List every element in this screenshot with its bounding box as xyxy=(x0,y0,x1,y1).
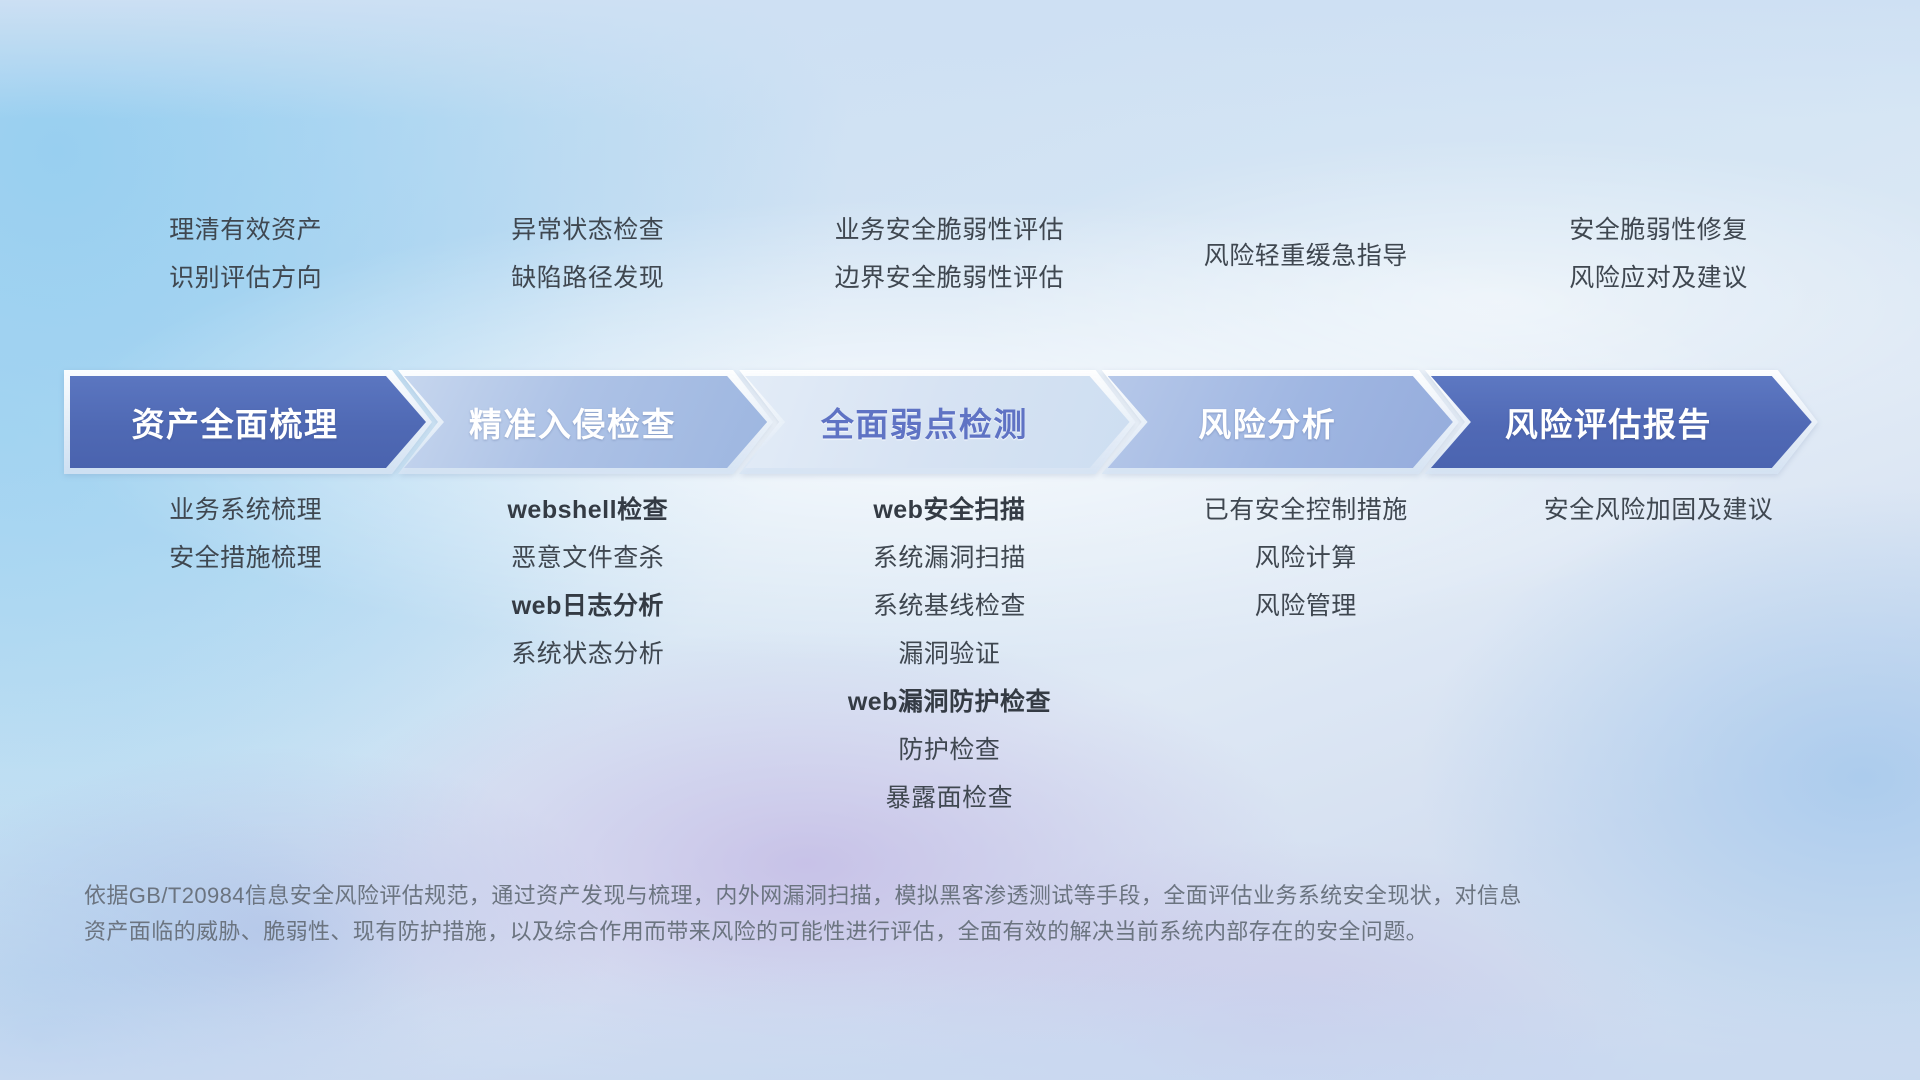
bottom-item: 安全措施梳理 xyxy=(169,546,322,571)
top-column-asset-inventory: 理清有效资产 识别评估方向 xyxy=(78,218,413,314)
bottom-item: 漏洞验证 xyxy=(898,642,1000,667)
chevron-label: 资产全面梳理 xyxy=(132,398,365,446)
bottom-item: web安全扫描 xyxy=(873,498,1025,523)
top-outcomes-row: 理清有效资产 识别评估方向 异常状态检查 缺陷路径发现 业务安全脆弱性评估 边界… xyxy=(78,218,1842,328)
bottom-item: 系统状态分析 xyxy=(511,642,664,667)
bottom-item: webshell检查 xyxy=(507,498,668,523)
top-item: 缺陷路径发现 xyxy=(511,266,664,291)
top-item: 风险轻重缓急指导 xyxy=(1204,244,1408,269)
top-item: 异常状态检查 xyxy=(511,218,664,243)
chevron-label: 精准入侵检查 xyxy=(469,398,702,446)
diagram-content: 理清有效资产 识别评估方向 异常状态检查 缺陷路径发现 业务安全脆弱性评估 边界… xyxy=(0,0,1920,1080)
bottom-item: web日志分析 xyxy=(512,594,664,619)
top-item: 业务安全脆弱性评估 xyxy=(835,218,1065,243)
bottom-column-asset-inventory: 业务系统梳理 安全措施梳理 xyxy=(78,498,413,594)
chevron-step-risk-analysis[interactable]: 风险分析 xyxy=(1108,376,1453,468)
bottom-item: 安全风险加固及建议 xyxy=(1544,498,1774,523)
bottom-item: 风险计算 xyxy=(1255,546,1357,571)
bottom-item: 系统基线检查 xyxy=(873,594,1026,619)
chevron-label: 全面弱点检测 xyxy=(821,398,1054,446)
top-item: 风险应对及建议 xyxy=(1569,266,1748,291)
top-item: 理清有效资产 xyxy=(169,218,322,243)
top-item: 边界安全脆弱性评估 xyxy=(835,266,1065,291)
chevron-label: 风险评估报告 xyxy=(1505,398,1738,446)
process-chevron-band: 资产全面梳理 精准入侵检查 全面弱点检测 风险分析 风险评估报告 xyxy=(70,376,1850,468)
top-column-intrusion-check: 异常状态检查 缺陷路径发现 xyxy=(413,218,762,314)
bottom-item: 暴露面检查 xyxy=(886,786,1014,811)
bottom-item: 系统漏洞扫描 xyxy=(873,546,1026,571)
bottom-item: 业务系统梳理 xyxy=(169,498,322,523)
bottom-column-risk-analysis: 已有安全控制措施 风险计算 风险管理 xyxy=(1136,498,1475,642)
bottom-column-intrusion-check: webshell检查 恶意文件查杀 web日志分析 系统状态分析 xyxy=(413,498,762,690)
footer-line-1: 依据GB/T20984信息安全风险评估规范，通过资产发现与梳理，内外网漏洞扫描，… xyxy=(84,878,1644,914)
bottom-item: 防护检查 xyxy=(898,738,1000,763)
chevron-label: 风险分析 xyxy=(1198,398,1362,446)
bottom-column-weakness-detection: web安全扫描 系统漏洞扫描 系统基线检查 漏洞验证 web漏洞防护检查 防护检… xyxy=(762,498,1136,834)
chevron-step-asset-inventory[interactable]: 资产全面梳理 xyxy=(70,376,426,468)
bottom-item: 已有安全控制措施 xyxy=(1204,498,1408,523)
top-item: 安全脆弱性修复 xyxy=(1569,218,1748,243)
bottom-item: 风险管理 xyxy=(1255,594,1357,619)
top-item: 识别评估方向 xyxy=(169,266,322,291)
bottom-column-risk-report: 安全风险加固及建议 xyxy=(1475,498,1842,546)
top-column-risk-analysis: 风险轻重缓急指导 xyxy=(1136,218,1475,292)
bottom-item: web漏洞防护检查 xyxy=(848,690,1051,715)
top-column-risk-report: 安全脆弱性修复 风险应对及建议 xyxy=(1475,218,1842,314)
bottom-activities-row: 业务系统梳理 安全措施梳理 webshell检查 恶意文件查杀 web日志分析 … xyxy=(78,498,1842,828)
top-column-weakness-detection: 业务安全脆弱性评估 边界安全脆弱性评估 xyxy=(762,218,1136,314)
chevron-step-risk-report[interactable]: 风险评估报告 xyxy=(1431,376,1812,468)
slide-canvas: 理清有效资产 识别评估方向 异常状态检查 缺陷路径发现 业务安全脆弱性评估 边界… xyxy=(0,0,1920,1080)
footer-line-2: 资产面临的威胁、脆弱性、现有防护措施，以及综合作用而带来风险的可能性进行评估，全… xyxy=(84,914,1644,950)
chevron-step-weakness-detection[interactable]: 全面弱点检测 xyxy=(745,376,1129,468)
footer-description: 依据GB/T20984信息安全风险评估规范，通过资产发现与梳理，内外网漏洞扫描，… xyxy=(84,878,1644,949)
bottom-item: 恶意文件查杀 xyxy=(511,546,664,571)
chevron-step-intrusion-check[interactable]: 精准入侵检查 xyxy=(404,376,767,468)
